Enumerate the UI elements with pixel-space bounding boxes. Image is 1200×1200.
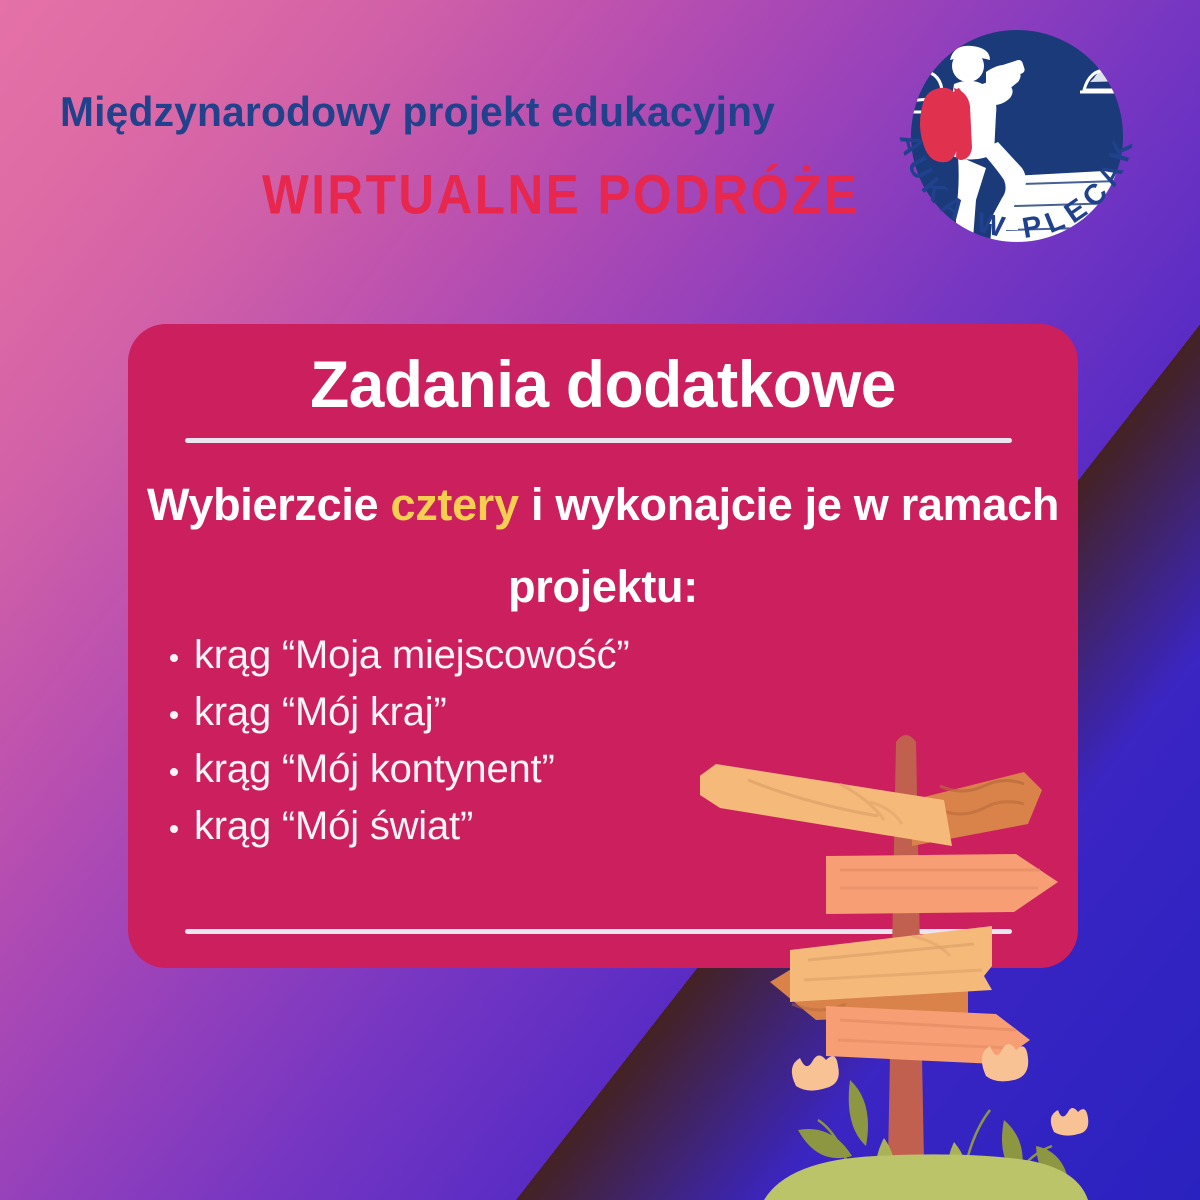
divider-top (185, 438, 1012, 443)
header-subtitle-line: Międzynarodowy projekt edukacyjny (60, 88, 797, 136)
wooden-signpost-illustration (700, 728, 1190, 1200)
poster-canvas: Międzynarodowy projekt edukacyjny WIRTUA… (0, 0, 1200, 1200)
list-item: krąg “Mój świat” (164, 798, 630, 855)
subtitle-part-1: Wybierzcie (147, 479, 390, 530)
subtitle-part-2: i wykonajcie je w ramach projektu: (508, 479, 1059, 612)
subtitle-highlight: cztery (390, 479, 518, 530)
list-item: krąg “Moja miejscowość” (164, 627, 630, 684)
grass-and-flowers (764, 1044, 1088, 1200)
signpost-board-third-left (790, 926, 992, 1002)
task-list: krąg “Moja miejscowość” krąg “Mój kraj” … (164, 627, 630, 855)
cloud-fill (1110, 51, 1162, 84)
nauka-w-plecaku-logo: NAUKA W PLECAKU (862, 8, 1172, 308)
signpost-board-bottom (826, 994, 1030, 1064)
list-item: krąg “Mój kontynent” (164, 741, 630, 798)
signpost-board-middle-right (826, 854, 1058, 914)
page-title: Zadania dodatkowe (142, 346, 1064, 422)
card-subtitle: Wybierzcie cztery i wykonajcie je w rama… (142, 464, 1064, 628)
header-title-line: WIRTUALNE PODRÓŻE (262, 162, 860, 227)
list-item: krąg “Mój kraj” (164, 684, 630, 741)
